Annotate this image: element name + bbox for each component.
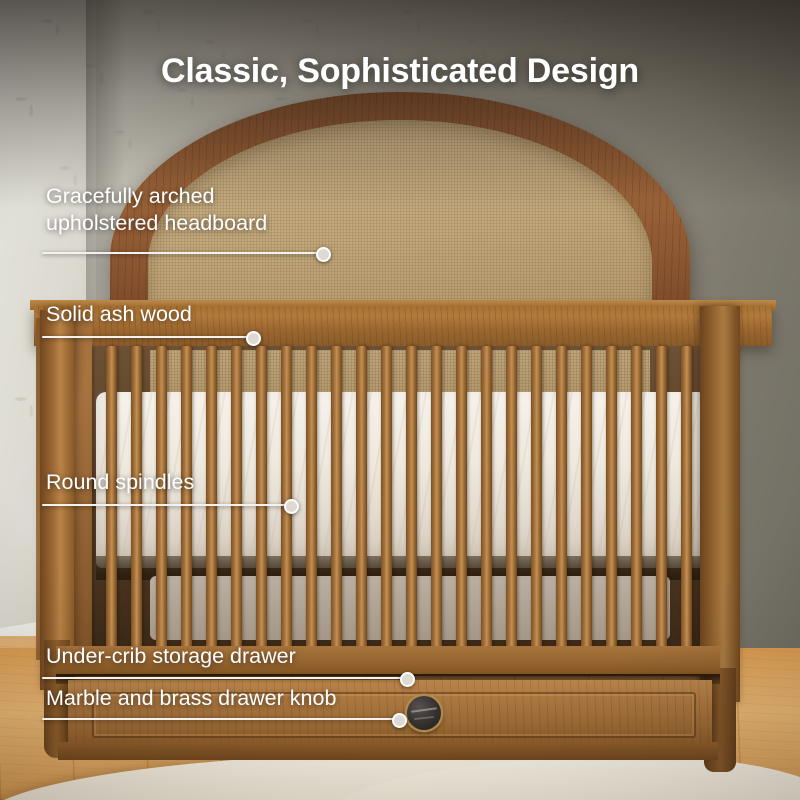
callout-label: Under-crib storage drawer [46,643,296,670]
callout-leader-line [42,718,398,720]
callout-dot-icon [246,331,261,346]
product-feature-image: Classic, Sophisticated Design Gracefully… [0,0,800,800]
callout-label: Marble and brass drawer knob [46,685,336,712]
callout-leader-line [42,336,252,338]
callout-dot-icon [392,713,407,728]
callout-marble-and-brass-drawer-knob: Marble and brass drawer knob [46,685,336,712]
callout-label: Gracefully arched [46,183,267,210]
callout-headboard: Gracefully archedupholstered headboard [46,183,267,237]
callout-dot-icon [400,672,415,687]
callout-leader-line [42,252,322,254]
callout-dot-icon [316,247,331,262]
callout-label: Solid ash wood [46,301,192,328]
page-title: Classic, Sophisticated Design [0,52,800,91]
callout-leader-line [42,677,406,679]
annotation-overlay: Classic, Sophisticated Design Gracefully… [0,0,800,800]
callout-round-spindles: Round spindles [46,469,194,496]
callout-dot-icon [284,499,299,514]
callout-leader-line [42,504,290,506]
callout-label: upholstered headboard [46,210,267,237]
callout-solid-ash-wood: Solid ash wood [46,301,192,328]
callout-under-crib-storage-drawer: Under-crib storage drawer [46,643,296,670]
callout-label: Round spindles [46,469,194,496]
